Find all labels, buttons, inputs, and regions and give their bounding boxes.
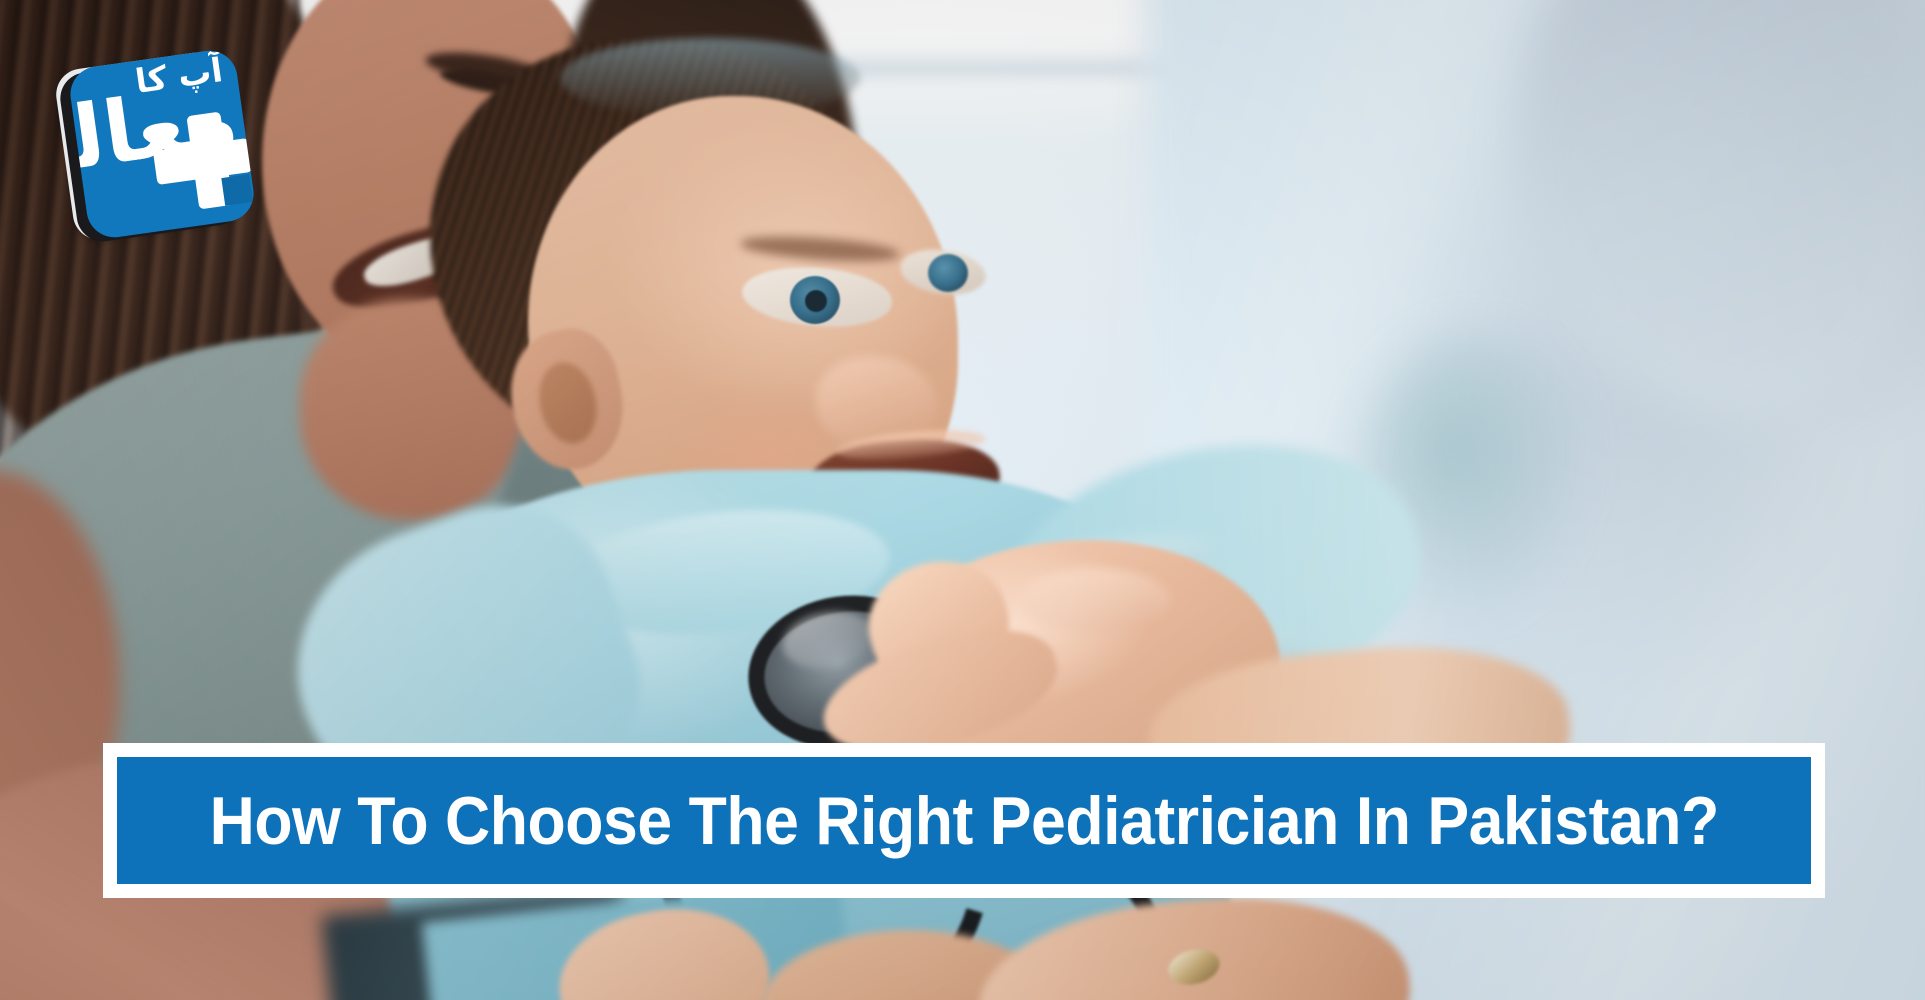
- title-banner-fill: How To Choose The Right Pediatrician In …: [117, 757, 1811, 884]
- doctor-knuckles: [1020, 568, 1170, 632]
- logo-blue-card: آپ کا معالج: [67, 47, 257, 241]
- medical-cross-notch: [221, 174, 253, 206]
- brand-logo[interactable]: آپ کا معالج: [58, 52, 250, 248]
- page-title: How To Choose The Right Pediatrician In …: [209, 787, 1718, 855]
- title-banner: How To Choose The Right Pediatrician In …: [103, 743, 1825, 898]
- hero-banner: آپ کا معالج How To Choose The Right Pedi…: [0, 0, 1925, 1000]
- baby-pupil-near: [805, 290, 827, 312]
- baby-iris-far: [928, 254, 968, 292]
